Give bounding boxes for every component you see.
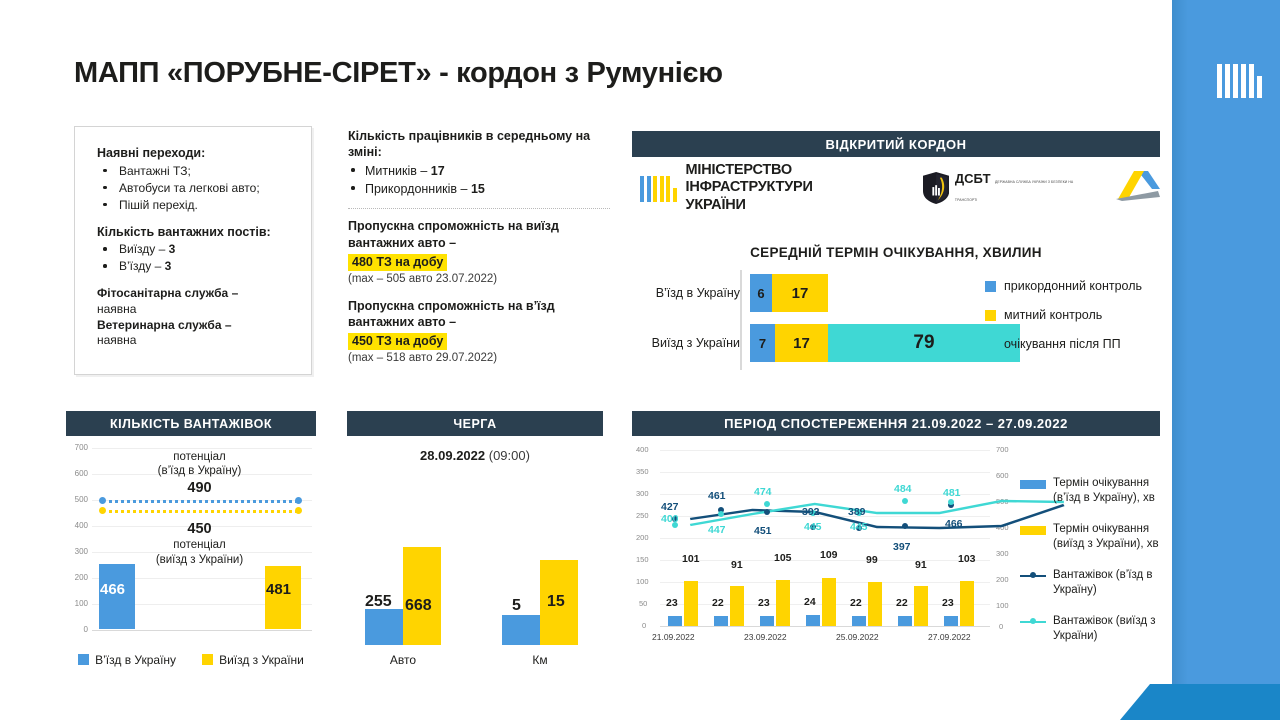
legend-label: Термін очікування (в’їзд в Україну), хв — [1053, 476, 1160, 506]
bar-entry-wait — [898, 616, 912, 626]
bar-entry-wait — [944, 616, 958, 626]
capacity-highlight: 480 ТЗ на добу — [348, 254, 447, 271]
legend-swatch-icon — [985, 281, 996, 292]
posts-list: Виїзду – 3 В’їзду – 3 — [97, 241, 297, 275]
annot-value: 490 — [187, 480, 211, 496]
list-item: Пішій перехід. — [97, 197, 297, 214]
legend-swatch-icon — [78, 654, 89, 665]
staff-value: 17 — [431, 164, 445, 178]
point-entry — [902, 523, 908, 529]
capacity-lead: Пропускна спроможність на в’їзд вантажни… — [348, 298, 610, 331]
potential-dot — [99, 497, 106, 504]
row-label: В’їзд в Україну — [632, 286, 750, 300]
list-item: Митників – 17 — [348, 162, 610, 180]
segment-border-control: 6 — [750, 274, 772, 312]
annot-line1: потенціал — [173, 539, 226, 551]
left-y-tick: 0 — [642, 621, 646, 630]
service-value: наявна — [97, 302, 136, 316]
line-value-exit: 445 — [850, 521, 868, 533]
bar-entry-wait — [714, 616, 728, 626]
row-label: Виїзд з України — [632, 336, 750, 350]
annot-line1: потенціал — [173, 451, 226, 463]
bar-value-entry: 24 — [804, 596, 816, 608]
point-exit — [948, 499, 954, 505]
legend-item: митний контроль — [985, 308, 1160, 322]
legend-label: прикордонний контроль — [1004, 279, 1142, 293]
bar-value-km-exit: 15 — [547, 593, 565, 611]
capacity-exit-block: Пропускна спроможність на виїзд вантажни… — [348, 218, 610, 285]
band-logo-icon — [1217, 58, 1262, 98]
legend-item: Вантажівок (виїзд з України) — [1020, 614, 1160, 644]
line-value-exit: 447 — [708, 524, 726, 536]
list-item: Виїзду – 3 — [97, 241, 297, 258]
bar-value-entry: 23 — [666, 597, 678, 609]
queue-panel-header: ЧЕРГА — [347, 411, 603, 436]
capacity-note: (max – 518 авто 29.07.2022) — [348, 352, 610, 364]
queue-time-value: (09:00) — [489, 448, 530, 463]
axis-line — [92, 630, 312, 631]
left-y-tick: 50 — [639, 599, 647, 608]
gridline — [660, 472, 990, 473]
divider — [348, 208, 610, 209]
bar-auto-entry — [365, 609, 403, 645]
crossings-list: Вантажні ТЗ; Автобуси та легкові авто; П… — [97, 163, 297, 214]
bar-value-entry: 22 — [850, 597, 862, 609]
avg-wait-legend: прикордонний контроль митний контроль оч… — [985, 279, 1160, 366]
right-y-tick: 400 — [996, 523, 1009, 532]
point-exit — [902, 498, 908, 504]
left-y-tick: 250 — [636, 511, 649, 520]
bar-value-exit: 109 — [820, 549, 838, 561]
trucks-chart: 700 600 500 400 300 200 100 0 466 481 по… — [66, 444, 316, 649]
period-legend: Термін очікування (в’їзд в Україну), хв … — [1020, 476, 1160, 660]
list-item: Автобуси та легкові авто; — [97, 180, 297, 197]
bar-exit-wait — [914, 586, 928, 626]
open-border-panel: ВІДКРИТИЙ КОРДОН МІНІСТЕРСТВО ІНФРАСТРУК… — [632, 131, 1160, 219]
bar-value-auto-entry: 255 — [365, 593, 392, 611]
potential-dot — [295, 497, 302, 504]
line-value-exit: 481 — [943, 487, 961, 499]
legend-line-icon — [1020, 616, 1046, 628]
line-value-entry: 397 — [893, 541, 911, 553]
queue-panel: ЧЕРГА 28.09.2022 (09:00) 255 668 Авто 5 … — [347, 411, 603, 645]
row-bars: 7 17 79 — [750, 324, 1020, 362]
right-y-tick: 100 — [996, 601, 1009, 610]
annot-line2: (виїзд з України) — [156, 554, 243, 566]
line-value-entry: 451 — [754, 525, 772, 537]
ministry-logo: МІНІСТЕРСТВО ІНФРАСТРУКТУРИ УКРАЇНИ — [640, 162, 863, 213]
x-label-km: Км — [502, 653, 578, 667]
bar-value-entry: 22 — [896, 597, 908, 609]
bar-value-entry: 23 — [942, 597, 954, 609]
y-tick: 0 — [66, 625, 88, 634]
crossings-block: Наявні переходи: Вантажні ТЗ; Автобуси т… — [97, 146, 297, 214]
legend-swatch-icon — [1020, 524, 1046, 536]
bar-value-exit: 101 — [682, 553, 700, 565]
right-band-shadow — [1172, 0, 1188, 684]
left-y-tick: 150 — [636, 555, 649, 564]
capacity-highlight: 450 ТЗ на добу — [348, 333, 447, 350]
potential-dot — [99, 507, 106, 514]
legend-item: Термін очікування (в’їзд в Україну), хв — [1020, 476, 1160, 506]
legend-label: очікування після ПП — [1004, 337, 1121, 351]
left-y-tick: 400 — [636, 445, 649, 454]
bar-value-auto-exit: 668 — [405, 597, 432, 615]
right-y-tick: 200 — [996, 575, 1009, 584]
capacity-lead: Пропускна спроможність на виїзд вантажни… — [348, 218, 610, 251]
line-value-entry: 427 — [661, 501, 679, 513]
bar-auto-exit — [403, 547, 441, 645]
crossings-heading: Наявні переходи: — [97, 146, 297, 162]
potential-dot — [295, 507, 302, 514]
point-exit — [718, 511, 724, 517]
right-y-tick: 0 — [999, 622, 1003, 631]
staff-label: Прикордонників – — [365, 182, 471, 196]
y-tick: 300 — [66, 547, 88, 556]
post-value: 3 — [165, 259, 172, 273]
ministry-line1: МІНІСТЕРСТВО — [686, 162, 793, 178]
y-tick: 100 — [66, 599, 88, 608]
potential-line-exit — [102, 510, 298, 513]
bar-value-km-entry: 5 — [512, 597, 521, 615]
legend-line-icon — [1020, 570, 1046, 582]
bar-value-exit: 481 — [266, 581, 291, 598]
potential-line-entry — [102, 500, 298, 503]
x-tick: 23.09.2022 — [744, 632, 787, 642]
y-tick: 600 — [66, 469, 88, 478]
potential-annotation-exit: 450 потенціал (виїзд з України) — [122, 520, 277, 567]
legend-item: Вантажівок (в’їзд в Україну) — [1020, 568, 1160, 598]
period-panel: ПЕРІОД СПОСТЕРЕЖЕННЯ 21.09.2022 – 27.09.… — [632, 411, 1160, 647]
bar-value-exit: 91 — [731, 559, 743, 571]
list-item: Прикордонників – 15 — [348, 180, 610, 198]
y-tick: 500 — [66, 495, 88, 504]
bar-value-entry: 22 — [712, 597, 724, 609]
capacity-entry-block: Пропускна спроможність на в’їзд вантажни… — [348, 298, 610, 365]
legend-label: Вантажівок (в’їзд в Україну) — [1053, 568, 1160, 598]
left-y-tick: 300 — [636, 489, 649, 498]
services-block: Фітосанітарна служба – наявна Ветеринарн… — [97, 286, 297, 348]
left-y-tick: 100 — [636, 577, 649, 586]
list-item: В’їзду – 3 — [97, 258, 297, 275]
bar-km-entry — [502, 615, 540, 645]
staff-heading: Кількість працівників в середньому на зм… — [348, 128, 610, 160]
post-label: Виїзду – — [119, 242, 169, 256]
right-y-tick: 600 — [996, 471, 1009, 480]
line-value-entry: 466 — [945, 518, 963, 530]
dsbt-logo: ДСБТ ДЕРЖАВНА СЛУЖБА УКРАЇНИ З БЕЗПЕКИ Н… — [923, 170, 1088, 206]
trucks-legend: В’їзд в Україну Виїзд з України — [66, 653, 316, 667]
legend-item: прикордонний контроль — [985, 279, 1160, 293]
logo-row: МІНІСТЕРСТВО ІНФРАСТРУКТУРИ УКРАЇНИ ДСБТ… — [632, 157, 1160, 219]
axis-line — [660, 626, 990, 627]
page-title: МАПП «ПОРУБНЕ-СІРЕТ» - кордон з Румунією — [74, 57, 723, 90]
line-value-exit: 484 — [894, 483, 912, 495]
y-tick: 400 — [66, 521, 88, 530]
gridline — [660, 516, 990, 517]
bar-value-exit: 99 — [866, 554, 878, 566]
line-value-exit: 445 — [804, 521, 822, 533]
shield-icon — [923, 171, 949, 205]
bar-entry-wait — [806, 615, 820, 626]
bar-value-entry: 23 — [758, 597, 770, 609]
legend-label: Термін очікування (виїзд з України), хв — [1053, 522, 1160, 552]
service-value: наявна — [97, 333, 136, 347]
open-border-header: ВІДКРИТИЙ КОРДОН — [632, 131, 1160, 157]
dsbt-abbr: ДСБТ — [955, 171, 991, 186]
legend-swatch-icon — [202, 654, 213, 665]
list-item: Вантажні ТЗ; — [97, 163, 297, 180]
line-value-entry: 392 — [802, 506, 820, 518]
segment-customs-control: 17 — [772, 274, 828, 312]
bar-exit-wait — [822, 578, 836, 626]
y-tick: 700 — [66, 443, 88, 452]
line-value-exit: 474 — [754, 486, 772, 498]
staff-label: Митників – — [365, 164, 431, 178]
line-value-exit: 400 — [661, 513, 679, 525]
bar-exit-wait — [684, 581, 698, 626]
period-panel-header: ПЕРІОД СПОСТЕРЕЖЕННЯ 21.09.2022 – 27.09.… — [632, 411, 1160, 436]
post-value: 3 — [169, 242, 176, 256]
gridline — [660, 450, 990, 451]
x-label-auto: Авто — [365, 653, 441, 667]
point-exit — [764, 501, 770, 507]
left-y-tick: 200 — [636, 533, 649, 542]
bar-entry-wait — [668, 616, 682, 626]
service-label: Фітосанітарна служба – — [97, 286, 238, 300]
potential-annotation-entry: потенціал (в’їзд в Україну) 490 — [122, 450, 277, 497]
x-tick: 25.09.2022 — [836, 632, 879, 642]
service-item: Ветеринарна служба – наявна — [97, 318, 297, 349]
queue-date: 28.09.2022 (09:00) — [347, 448, 603, 463]
capacity-column: Кількість працівників в середньому на зм… — [348, 128, 610, 377]
line-value-entry: 461 — [708, 490, 726, 502]
legend-item: В’їзд в Україну — [78, 653, 176, 667]
bar-exit-wait — [868, 582, 882, 626]
legend-swatch-icon — [985, 339, 996, 350]
axis-line — [740, 270, 742, 370]
queue-chart: 255 668 Авто 5 15 Км — [347, 485, 603, 645]
right-decor-band — [1188, 0, 1280, 684]
post-label: В’їзду – — [119, 259, 165, 273]
bar-value-entry: 466 — [100, 581, 125, 598]
y-tick: 200 — [66, 573, 88, 582]
service-label: Ветеринарна служба – — [97, 318, 232, 332]
right-foot-decor — [1080, 674, 1280, 720]
legend-swatch-icon — [1020, 478, 1046, 490]
legend-label: Вантажівок (виїзд з України) — [1053, 614, 1160, 644]
info-box: Наявні переходи: Вантажні ТЗ; Автобуси т… — [74, 126, 312, 375]
staff-value: 15 — [471, 182, 485, 196]
posts-block: Кількість вантажних постів: Виїзду – 3 В… — [97, 225, 297, 276]
legend-label: Виїзд з України — [219, 653, 304, 667]
avg-wait-chart: СЕРЕДНІЙ ТЕРМІН ОЧІКУВАННЯ, ХВИЛИН В’їзд… — [632, 245, 1160, 385]
ministry-bars-icon — [640, 174, 677, 202]
right-y-tick: 700 — [996, 445, 1009, 454]
trucks-panel: КІЛЬКІСТЬ ВАНТАЖІВОК 700 600 500 400 300… — [66, 411, 316, 667]
dsbt-logo-text: ДСБТ ДЕРЖАВНА СЛУЖБА УКРАЇНИ З БЕЗПЕКИ Н… — [955, 170, 1088, 206]
staff-list: Митників – 17 Прикордонників – 15 — [348, 162, 610, 198]
line-value-entry: 389 — [848, 506, 866, 518]
annot-line2: (в’їзд в Україну) — [158, 465, 242, 477]
segment-border-control: 7 — [750, 324, 775, 362]
trucks-panel-header: КІЛЬКІСТЬ ВАНТАЖІВОК — [66, 411, 316, 436]
bar-exit-wait — [776, 580, 790, 626]
legend-label: митний контроль — [1004, 308, 1102, 322]
left-y-tick: 350 — [636, 467, 649, 476]
avg-wait-title: СЕРЕДНІЙ ТЕРМІН ОЧІКУВАННЯ, ХВИЛИН — [632, 245, 1160, 260]
bar-exit-wait — [730, 586, 744, 626]
gridline — [660, 538, 990, 539]
period-chart: 400 350 300 250 200 150 100 50 0 700 600… — [632, 442, 1160, 647]
gridline — [92, 448, 312, 449]
row-bars: 6 17 — [750, 274, 828, 312]
queue-date-value: 28.09.2022 — [420, 448, 485, 463]
bar-value-exit: 91 — [915, 559, 927, 571]
bar-value-exit: 103 — [958, 553, 976, 565]
legend-item: очікування після ПП — [985, 337, 1160, 351]
bar-entry-wait — [852, 616, 866, 626]
legend-label: В’їзд в Україну — [95, 653, 176, 667]
ukravtodor-logo — [1114, 169, 1160, 208]
x-tick: 27.09.2022 — [928, 632, 971, 642]
segment-customs-control: 17 — [775, 324, 828, 362]
legend-swatch-icon — [985, 310, 996, 321]
ministry-line2: ІНФРАСТРУКТУРИ УКРАЇНИ — [686, 179, 813, 212]
x-tick: 21.09.2022 — [652, 632, 695, 642]
right-y-tick: 500 — [996, 497, 1009, 506]
legend-item: Термін очікування (виїзд з України), хв — [1020, 522, 1160, 552]
service-item: Фітосанітарна служба – наявна — [97, 286, 297, 317]
bar-exit-wait — [960, 581, 974, 626]
legend-item: Виїзд з України — [202, 653, 304, 667]
point-entry — [764, 509, 770, 515]
capacity-note: (max – 505 авто 23.07.2022) — [348, 273, 610, 285]
bar-value-exit: 105 — [774, 552, 792, 564]
bar-entry-wait — [760, 616, 774, 626]
posts-heading: Кількість вантажних постів: — [97, 225, 297, 241]
annot-value: 450 — [187, 521, 211, 537]
ministry-logo-text: МІНІСТЕРСТВО ІНФРАСТРУКТУРИ УКРАЇНИ — [686, 162, 863, 213]
right-y-tick: 300 — [996, 549, 1009, 558]
a-mark-icon — [1114, 169, 1160, 203]
